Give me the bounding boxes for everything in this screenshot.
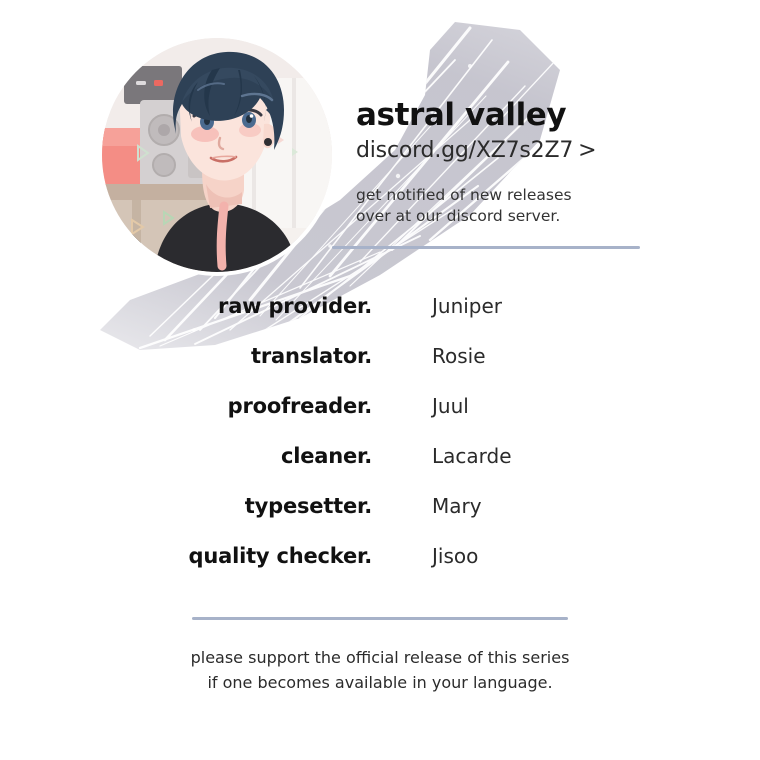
credit-person-name: Mary [432, 496, 482, 516]
credit-role-label: typesetter. [0, 496, 372, 517]
credit-row: proofreader. Juul [0, 396, 760, 446]
credit-row: cleaner. Lacarde [0, 446, 760, 496]
credit-role-label: proofreader. [0, 396, 372, 417]
credit-role-label: quality checker. [0, 546, 372, 567]
footer-divider [192, 617, 568, 620]
credit-person-name: Jisoo [432, 546, 478, 566]
server-description-line-2: over at our discord server. [356, 206, 656, 227]
support-notice-line-2: if one becomes available in your languag… [0, 671, 760, 696]
avatar [102, 38, 332, 272]
credit-person-name: Juul [432, 396, 469, 416]
credit-role-label: raw provider. [0, 296, 372, 317]
header-divider [332, 246, 640, 249]
credit-row: quality checker. Jisoo [0, 546, 760, 596]
credit-row: typesetter. Mary [0, 496, 760, 546]
credit-person-name: Juniper [432, 296, 502, 316]
support-notice: please support the official release of t… [0, 646, 760, 696]
credits-page: astral valley discord.gg/XZ7s2Z7> get no… [0, 0, 760, 760]
credit-role-label: translator. [0, 346, 372, 367]
support-notice-line-1: please support the official release of t… [0, 646, 760, 671]
server-description-line-1: get notified of new releases [356, 185, 656, 206]
discord-invite-link[interactable]: discord.gg/XZ7s2Z7> [356, 138, 656, 163]
credits-list: raw provider. Juniper translator. Rosie … [0, 296, 760, 596]
chevron-right-icon: > [578, 138, 596, 163]
discord-invite-text: discord.gg/XZ7s2Z7 [356, 138, 573, 163]
avatar-illustration [102, 38, 332, 272]
credit-row: raw provider. Juniper [0, 296, 760, 346]
server-info: astral valley discord.gg/XZ7s2Z7> get no… [356, 98, 656, 227]
credit-person-name: Lacarde [432, 446, 512, 466]
page-title: astral valley [356, 98, 656, 132]
credit-row: translator. Rosie [0, 346, 760, 396]
credit-person-name: Rosie [432, 346, 486, 366]
credit-role-label: cleaner. [0, 446, 372, 467]
server-description: get notified of new releases over at our… [356, 185, 656, 227]
